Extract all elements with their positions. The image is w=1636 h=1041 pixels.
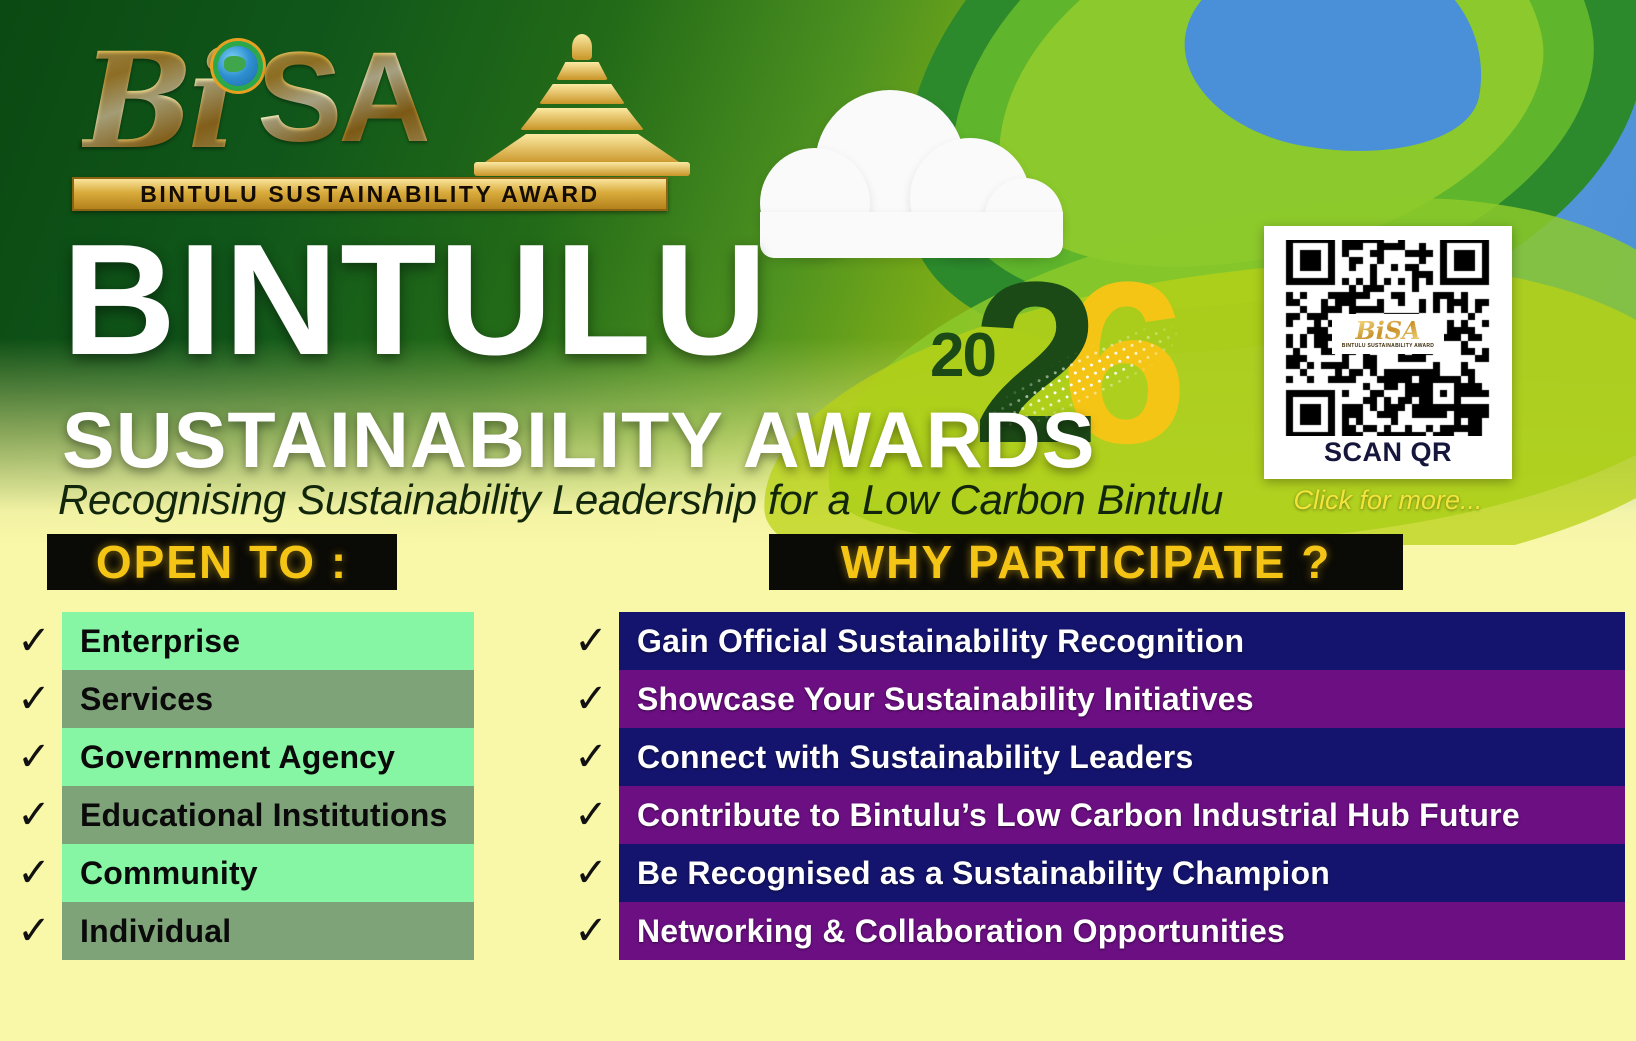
check-icon: ✓ <box>563 679 619 719</box>
list-item: ✓Contribute to Bintulu’s Low Carbon Indu… <box>563 786 1625 844</box>
check-icon: ✓ <box>563 737 619 777</box>
why-participate-item-row: Contribute to Bintulu’s Low Carbon Indus… <box>619 786 1625 844</box>
logo-sa-text: SA <box>257 24 427 171</box>
check-icon: ✓ <box>6 853 62 893</box>
why-participate-item-label: Showcase Your Sustainability Initiatives <box>637 681 1254 718</box>
list-item: ✓Individual <box>6 902 474 960</box>
check-icon: ✓ <box>6 911 62 951</box>
why-participate-item-row: Gain Official Sustainability Recognition <box>619 612 1625 670</box>
page-subtitle: SUSTAINABILITY AWARDS <box>62 400 1095 479</box>
open-to-banner-label: OPEN TO : <box>96 535 348 589</box>
tagline: Recognising Sustainability Leadership fo… <box>58 476 1223 524</box>
open-to-item-label: Educational Institutions <box>80 797 447 834</box>
qr-block[interactable]: BiSA BINTULU SUSTAINABILITY AWARD SCAN Q… <box>1264 226 1512 516</box>
open-to-item-label: Government Agency <box>80 739 395 776</box>
open-to-item-label: Services <box>80 681 213 718</box>
why-participate-banner: WHY PARTICIPATE ? <box>769 534 1403 590</box>
open-to-item-row: Individual <box>62 902 474 960</box>
cloud-icon <box>760 90 1060 220</box>
page-title: BINTULU <box>62 228 769 373</box>
why-participate-banner-label: WHY PARTICIPATE ? <box>841 535 1332 589</box>
why-participate-item-label: Contribute to Bintulu’s Low Carbon Indus… <box>637 797 1520 834</box>
why-participate-item-label: Networking & Collaboration Opportunities <box>637 913 1285 950</box>
list-item: ✓Gain Official Sustainability Recognitio… <box>563 612 1625 670</box>
open-to-item-row: Community <box>62 844 474 902</box>
open-to-banner: OPEN TO : <box>47 534 397 590</box>
why-participate-item-row: Networking & Collaboration Opportunities <box>619 902 1625 960</box>
logo-mark: Bi SA <box>72 22 672 172</box>
open-to-item-label: Community <box>80 855 258 892</box>
qr-embedded-logo: BiSA BINTULU SUSTAINABILITY AWARD <box>1332 314 1444 354</box>
why-participate-item-row: Connect with Sustainability Leaders <box>619 728 1625 786</box>
year-prefix-20: 20 <box>930 320 995 391</box>
open-to-item-row: Enterprise <box>62 612 474 670</box>
check-icon: ✓ <box>6 621 62 661</box>
list-item: ✓Services <box>6 670 474 728</box>
poster: Bi SA BINTULU SUSTAINABILITY AWARD BINTU… <box>0 0 1636 1041</box>
check-icon: ✓ <box>6 679 62 719</box>
why-participate-list: ✓Gain Official Sustainability Recognitio… <box>563 612 1625 960</box>
logo-bi-text: Bi <box>82 24 232 179</box>
list-item: ✓Educational Institutions <box>6 786 474 844</box>
globe-icon <box>218 46 258 86</box>
why-participate-item-row: Showcase Your Sustainability Initiatives <box>619 670 1625 728</box>
why-participate-item-label: Be Recognised as a Sustainability Champi… <box>637 855 1330 892</box>
open-to-item-row: Educational Institutions <box>62 786 474 844</box>
check-icon: ✓ <box>6 737 62 777</box>
pyramid-tower-icon <box>472 32 692 177</box>
list-item: ✓Enterprise <box>6 612 474 670</box>
open-to-item-label: Individual <box>80 913 231 950</box>
why-participate-item-row: Be Recognised as a Sustainability Champi… <box>619 844 1625 902</box>
logo-ribbon: BINTULU SUSTAINABILITY AWARD <box>72 177 668 211</box>
logo-ribbon-text: BINTULU SUSTAINABILITY AWARD <box>140 181 600 208</box>
list-item: ✓Community <box>6 844 474 902</box>
open-to-item-row: Government Agency <box>62 728 474 786</box>
check-icon: ✓ <box>563 795 619 835</box>
open-to-item-label: Enterprise <box>80 623 240 660</box>
why-participate-item-label: Gain Official Sustainability Recognition <box>637 623 1244 660</box>
qr-logo-bottom-text: BINTULU SUSTAINABILITY AWARD <box>1342 343 1434 349</box>
scan-qr-label: SCAN QR <box>1324 437 1452 468</box>
qr-code-icon[interactable]: BiSA BINTULU SUSTAINABILITY AWARD <box>1280 240 1496 436</box>
qr-logo-top-text: BiSA <box>1355 319 1420 343</box>
qr-card[interactable]: BiSA BINTULU SUSTAINABILITY AWARD SCAN Q… <box>1264 226 1512 479</box>
click-for-more-link[interactable]: Click for more... <box>1264 485 1512 516</box>
check-icon: ✓ <box>563 621 619 661</box>
bisa-logo: Bi SA BINTULU SUSTAINABILITY AWARD <box>72 22 672 212</box>
list-item: ✓Networking & Collaboration Opportunitie… <box>563 902 1625 960</box>
list-item: ✓Connect with Sustainability Leaders <box>563 728 1625 786</box>
open-to-list: ✓Enterprise✓Services✓Government Agency✓E… <box>6 612 474 960</box>
list-item: ✓Be Recognised as a Sustainability Champ… <box>563 844 1625 902</box>
why-participate-item-label: Connect with Sustainability Leaders <box>637 739 1193 776</box>
check-icon: ✓ <box>563 911 619 951</box>
check-icon: ✓ <box>6 795 62 835</box>
list-item: ✓Showcase Your Sustainability Initiative… <box>563 670 1625 728</box>
list-item: ✓Government Agency <box>6 728 474 786</box>
open-to-item-row: Services <box>62 670 474 728</box>
check-icon: ✓ <box>563 853 619 893</box>
